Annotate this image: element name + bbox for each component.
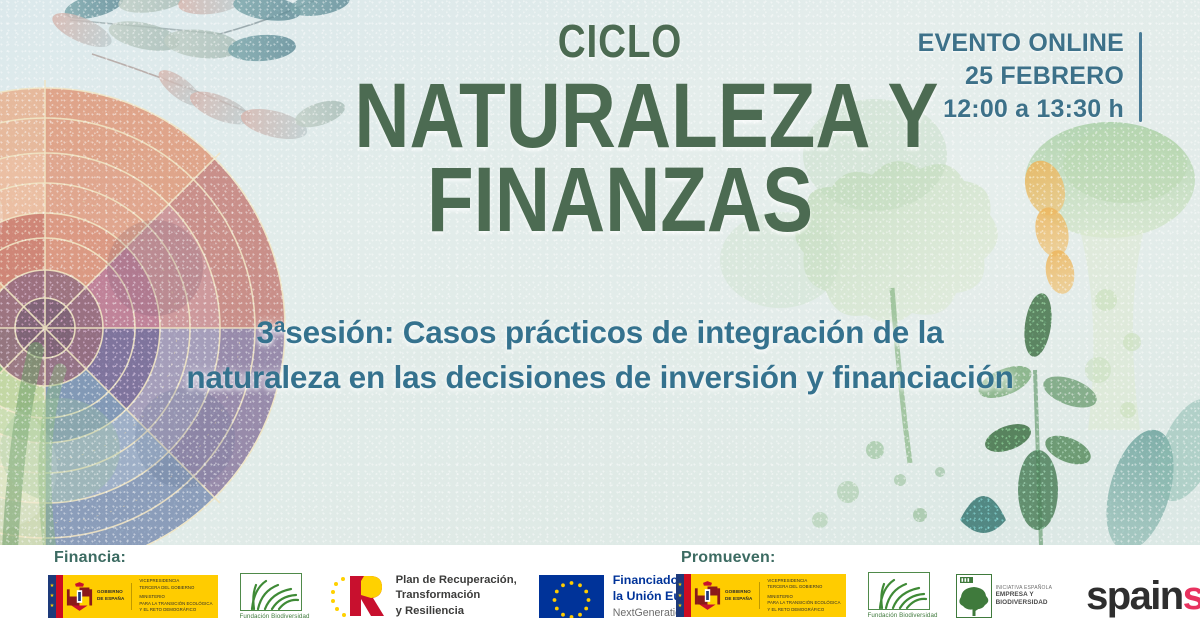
event-poster: CICLO NATURALEZA Y FINANZAS EVENTO ONLIN…: [0, 0, 1200, 628]
gobierno-body: GOBIERNO DE ESPAÑA VICEPRESIDENCIA TERCE…: [63, 575, 218, 618]
gobierno-wordmark: GOBIERNO DE ESPAÑA: [97, 589, 124, 602]
logo-gobierno-de-espana: ★ ★ ★: [48, 575, 218, 618]
star-icon: ★: [678, 594, 682, 598]
grass-icon-box: [240, 573, 302, 611]
session-subtitle: 3ªsesión: Casos prácticos de integración…: [0, 310, 1200, 399]
ministerio-wordmark: VICEPRESIDENCIA TERCERA DEL GOBIERNO MIN…: [767, 578, 840, 613]
eu-flag-icon: [539, 575, 604, 618]
subtitle-line-1: 3ªsesión: Casos prácticos de integración…: [60, 310, 1140, 355]
star-icon: ★: [50, 594, 54, 598]
event-time: 12:00 a 13:30 h: [918, 93, 1124, 126]
star-icon: ★: [50, 584, 54, 588]
event-mode: EVENTO ONLINE: [918, 27, 1124, 60]
grass-icon: [242, 576, 300, 610]
logo-divider: [759, 582, 760, 609]
event-info-divider: [1139, 32, 1142, 122]
title-line-2: FINANZAS: [354, 156, 885, 244]
spain-flag-stripe: ★ ★ ★: [48, 575, 63, 618]
red-stripe: [684, 574, 691, 617]
red-stripe: [56, 575, 63, 618]
logo-plan-recuperacion: Plan de Recuperación, Transformación y R…: [330, 572, 517, 620]
subtitle-line-2: naturaleza en las decisiones de inversió…: [60, 355, 1140, 400]
spainsif-part-2: sif: [1183, 574, 1200, 618]
prtr-monogram-icon: [330, 572, 388, 620]
footer-logo-band: Financia: Promueven: ★ ★ ★: [0, 545, 1200, 628]
logo-iniciativa-empresa-biodiversidad: INICIATIVA ESPAÑOLA EMPRESA Y BIODIVERSI…: [956, 574, 1053, 618]
star-icon: ★: [678, 583, 682, 587]
event-date: 25 FEBRERO: [918, 60, 1124, 93]
tree-icon: [957, 575, 991, 617]
eu-stars-stripe: ★ ★ ★: [676, 574, 684, 617]
spainsif-part-1: spain: [1086, 574, 1182, 618]
logo-gobierno-de-espana: ★ ★ ★: [676, 574, 846, 617]
eyebrow-ciclo: CICLO: [351, 18, 889, 64]
grass-icon: [870, 575, 928, 609]
promueven-logo-row: ★ ★ ★: [676, 572, 1200, 619]
prtr-wordmark: Plan de Recuperación, Transformación y R…: [396, 573, 517, 618]
title-block: CICLO NATURALEZA Y FINANZAS: [300, 18, 940, 245]
financia-logo-row: ★ ★ ★: [48, 572, 715, 620]
gobierno-wordmark: GOBIERNO DE ESPAÑA: [725, 589, 752, 602]
financia-label: Financia:: [54, 549, 126, 567]
logo-divider: [131, 583, 132, 610]
title-line-1: NATURALEZA Y: [354, 72, 885, 160]
logo-fundacion-biodiversidad: Fundación Biodiversidad: [868, 572, 938, 619]
promueven-label: Promueven:: [681, 549, 775, 567]
ministerio-wordmark: VICEPRESIDENCIA TERCERA DEL GOBIERNO MIN…: [139, 578, 212, 613]
gobierno-body: GOBIERNO DE ESPAÑA VICEPRESIDENCIA TERCE…: [691, 574, 846, 617]
eu-stars-stripe: ★ ★ ★: [48, 575, 56, 618]
fundacion-biodiversidad-caption: Fundación Biodiversidad: [240, 613, 310, 620]
spain-flag-stripe: ★ ★ ★: [676, 574, 691, 617]
event-info-block: EVENTO ONLINE 25 FEBRERO 12:00 a 13:30 h: [918, 27, 1142, 126]
logo-fundacion-biodiversidad: Fundación Biodiversidad: [240, 573, 310, 620]
coat-of-arms-icon: [694, 580, 721, 611]
star-icon: ★: [678, 604, 682, 608]
coat-of-arms-icon: [66, 581, 93, 612]
grass-icon-box: [868, 572, 930, 610]
star-icon: ★: [50, 604, 54, 608]
tree-icon-box: [956, 574, 992, 618]
ieeb-wordmark: INICIATIVA ESPAÑOLA EMPRESA Y BIODIVERSI…: [996, 585, 1053, 607]
fundacion-biodiversidad-caption: Fundación Biodiversidad: [868, 612, 938, 619]
logo-spainsif: spainsif: [1086, 576, 1200, 616]
